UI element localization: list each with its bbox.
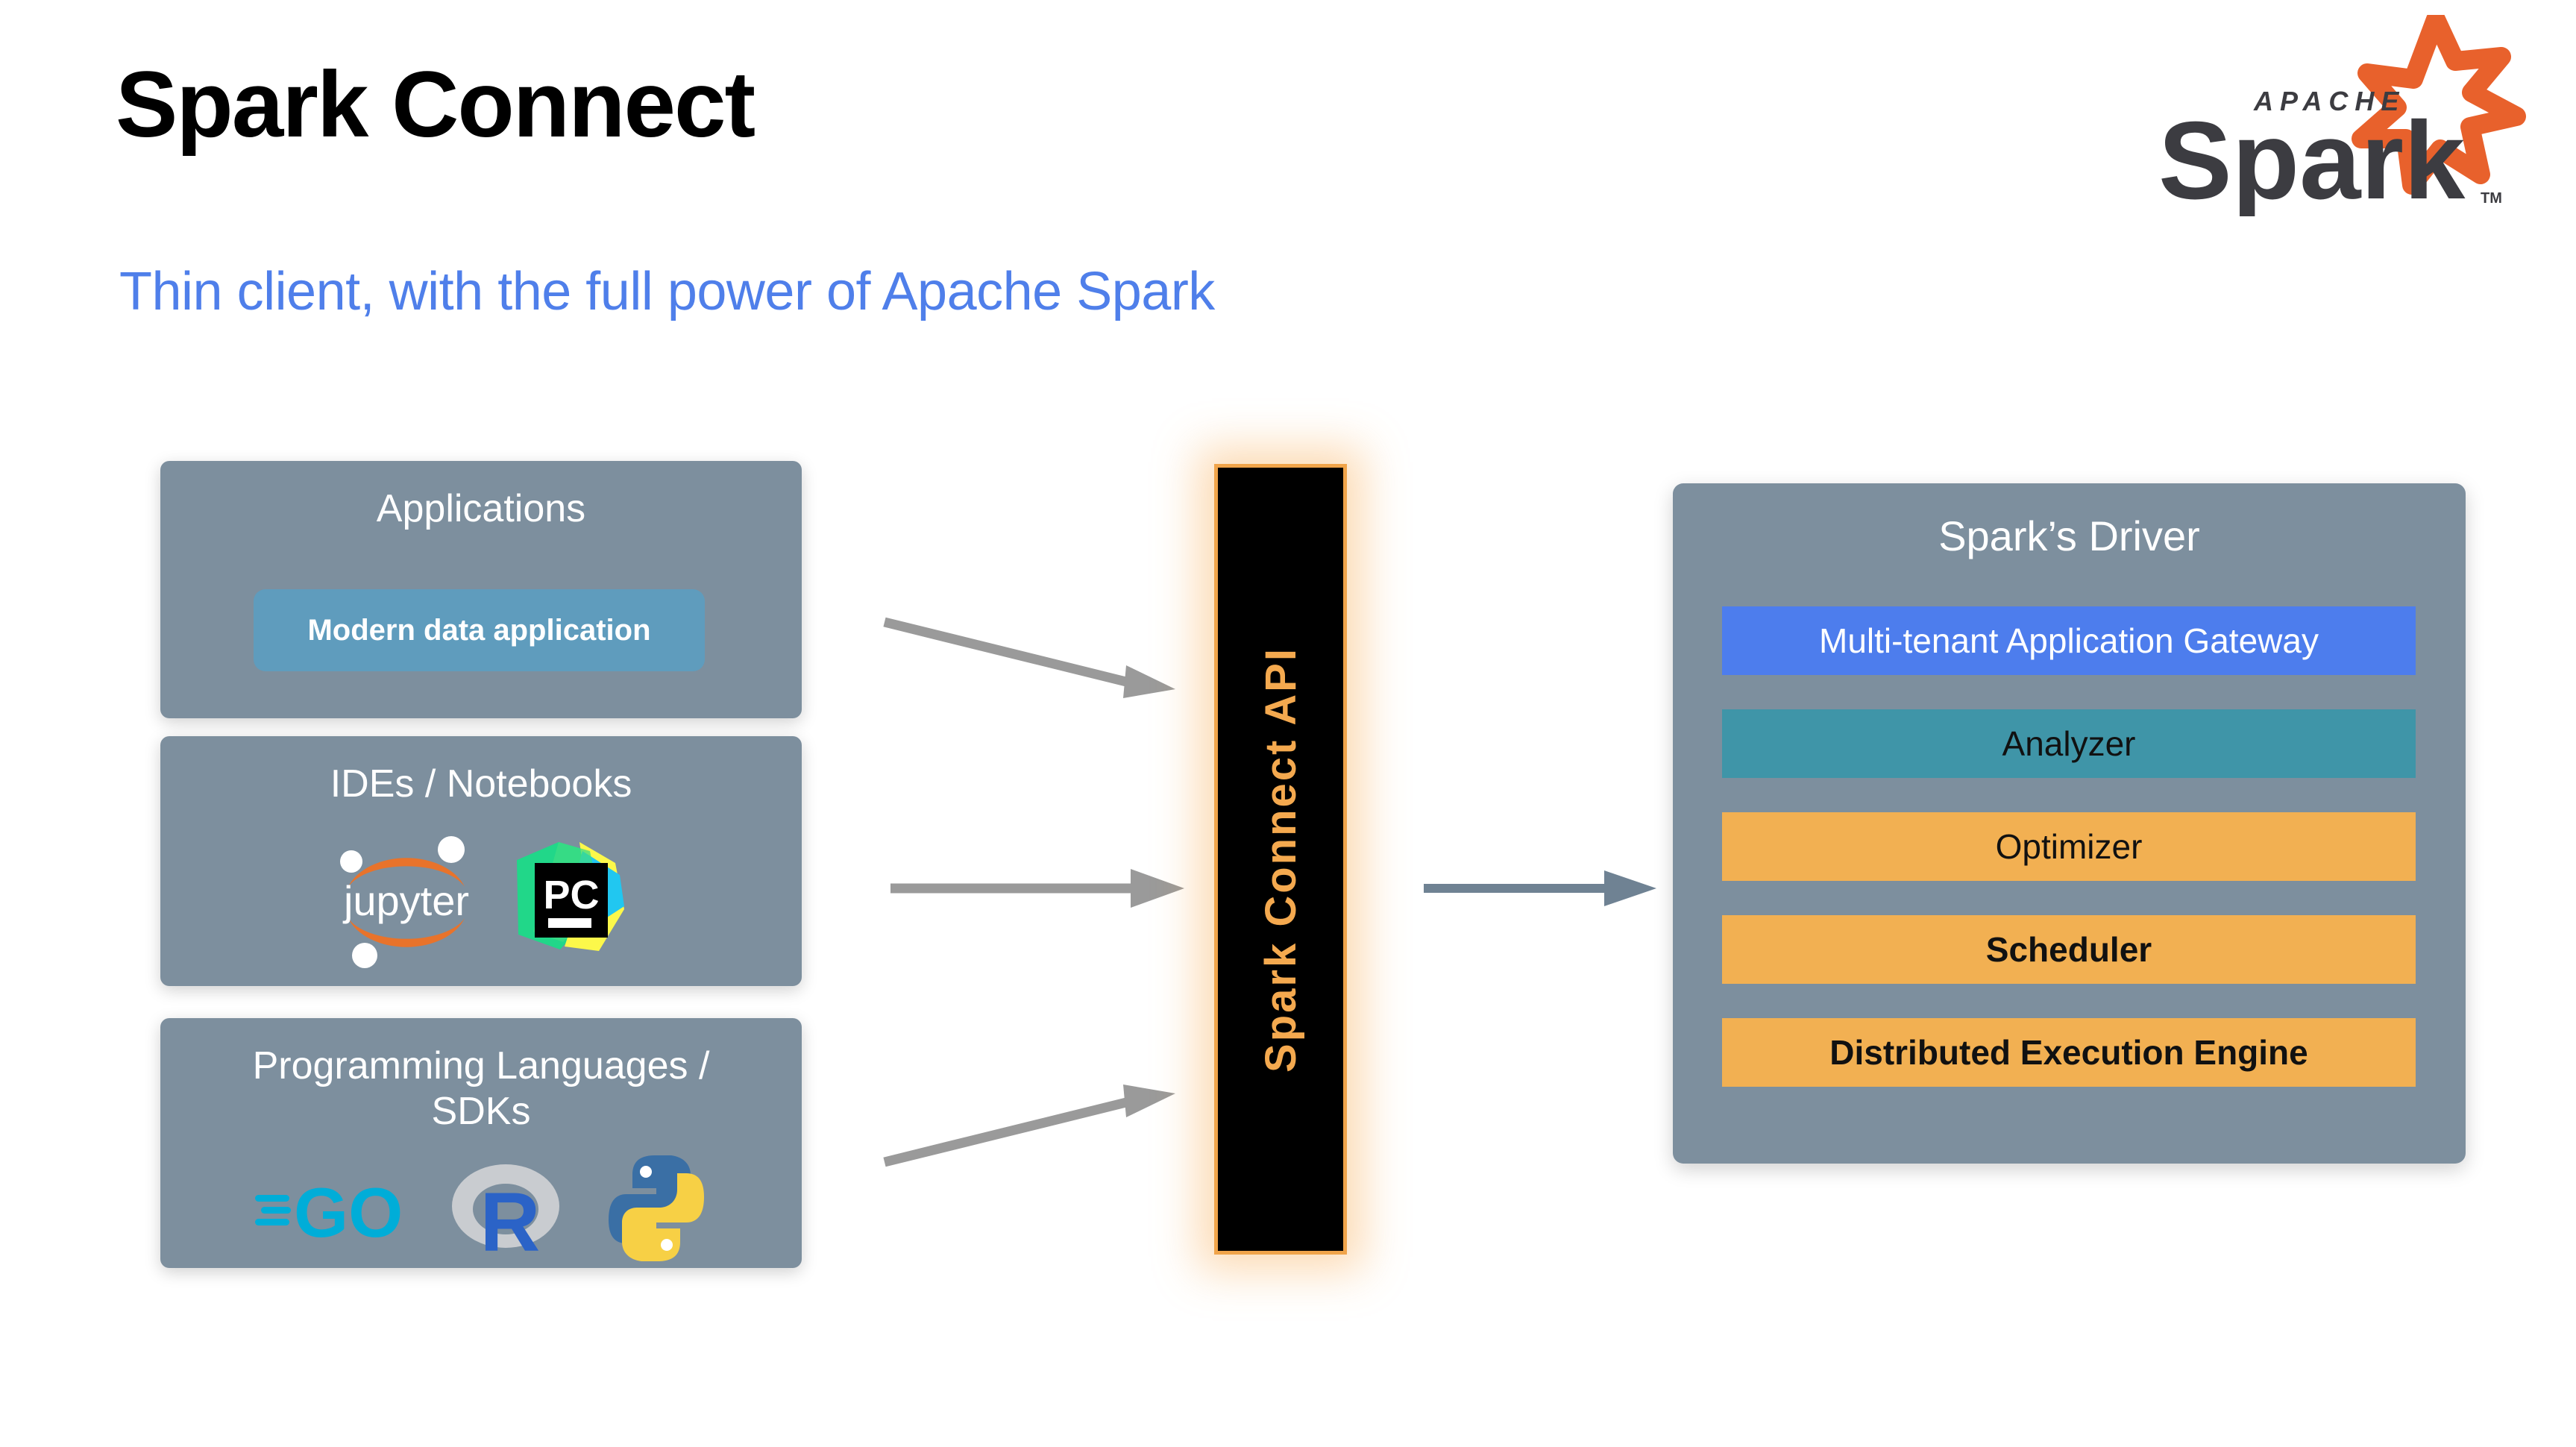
pycharm-label: PC [543,873,599,917]
language-logo-row: GO R [160,1152,802,1264]
driver-row-label: Analyzer [2002,726,2136,761]
arrow-head [1131,869,1184,908]
page-subtitle: Thin client, with the full power of Apac… [119,261,1215,322]
spark-connect-api-label: Spark Connect API [1256,647,1306,1073]
driver-component-list: Multi-tenant Application GatewayAnalyzer… [1722,606,2416,1121]
card-programming-languages[interactable]: Programming Languages / SDKs GO R [160,1018,802,1268]
logo-wordmark: Spark [2158,99,2466,216]
pycharm-underscore [548,918,591,928]
driver-row[interactable]: Multi-tenant Application Gateway [1722,606,2416,675]
card-languages-title-line1: Programming Languages / [253,1044,710,1087]
driver-row[interactable]: Analyzer [1722,709,2416,778]
driver-row[interactable]: Optimizer [1722,812,2416,881]
jupyter-wordmark: jupyter [342,877,469,924]
arrow-languages-to-api [880,1074,1193,1171]
jupyter-dot-left [340,850,362,873]
card-ides-title: IDEs / Notebooks [160,736,802,807]
r-label: R [480,1176,541,1264]
python-logo-icon [604,1152,709,1264]
apache-spark-logo: APACHE Spark TM [2143,15,2531,216]
arrow-head [1123,1085,1175,1117]
jupyter-dot-bottom-left [352,943,377,968]
card-applications-title: Applications [160,461,802,532]
card-languages-title-line2: SDKs [432,1090,531,1133]
go-logo-icon: GO [254,1164,410,1253]
arrow-shaft [885,622,1132,683]
arrow-shaft [885,1101,1132,1162]
arrow-head [1123,665,1175,698]
driver-row[interactable]: Distributed Execution Engine [1722,1018,2416,1087]
go-speed-line-2 [261,1207,291,1214]
apache-spark-logo-icon: APACHE Spark TM [2143,15,2531,216]
card-applications[interactable]: Applications Modern data application [160,461,802,718]
r-logo-icon: R [447,1152,567,1264]
python-logo [604,1152,709,1264]
jupyter-dot-top-right [438,836,465,863]
go-label: GO [294,1173,403,1252]
spark-driver-panel[interactable]: Spark’s Driver Multi-tenant Application … [1673,483,2466,1164]
go-logo: GO [254,1164,410,1253]
page-title: Spark Connect [116,56,754,154]
go-speed-line-1 [255,1195,289,1202]
r-logo: R [447,1152,567,1264]
spark-driver-title: Spark’s Driver [1673,483,2466,560]
card-languages-title: Programming Languages / SDKs [160,1018,802,1135]
ide-logo-row: jupyter PC [160,832,802,970]
arrow-ides-to-api [888,861,1193,914]
python-eye-lower [661,1239,673,1251]
card-ides-notebooks[interactable]: IDEs / Notebooks jupyter [160,736,802,986]
arrow-applications-to-api [880,612,1193,709]
driver-row-label: Optimizer [1996,829,2143,864]
arrow-head [1604,870,1656,906]
logo-trademark: TM [2481,190,2502,207]
spark-connect-api-bar[interactable]: Spark Connect API [1214,464,1347,1255]
python-eye-upper [640,1166,652,1178]
go-speed-line-3 [255,1219,289,1225]
driver-row-label: Scheduler [1986,932,2152,967]
arrow-api-to-driver [1421,861,1667,914]
pycharm-logo-icon: PC [511,838,630,964]
driver-row-label: Multi-tenant Application Gateway [1819,624,2319,658]
driver-row[interactable]: Scheduler [1722,915,2416,984]
pycharm-logo: PC [511,838,630,964]
modern-data-application-pill[interactable]: Modern data application [254,589,705,671]
slide-canvas: Spark Connect Thin client, with the full… [0,0,2576,1447]
jupyter-logo-icon: jupyter [332,832,481,970]
driver-row-label: Distributed Execution Engine [1829,1035,2308,1070]
jupyter-logo: jupyter [332,832,481,970]
